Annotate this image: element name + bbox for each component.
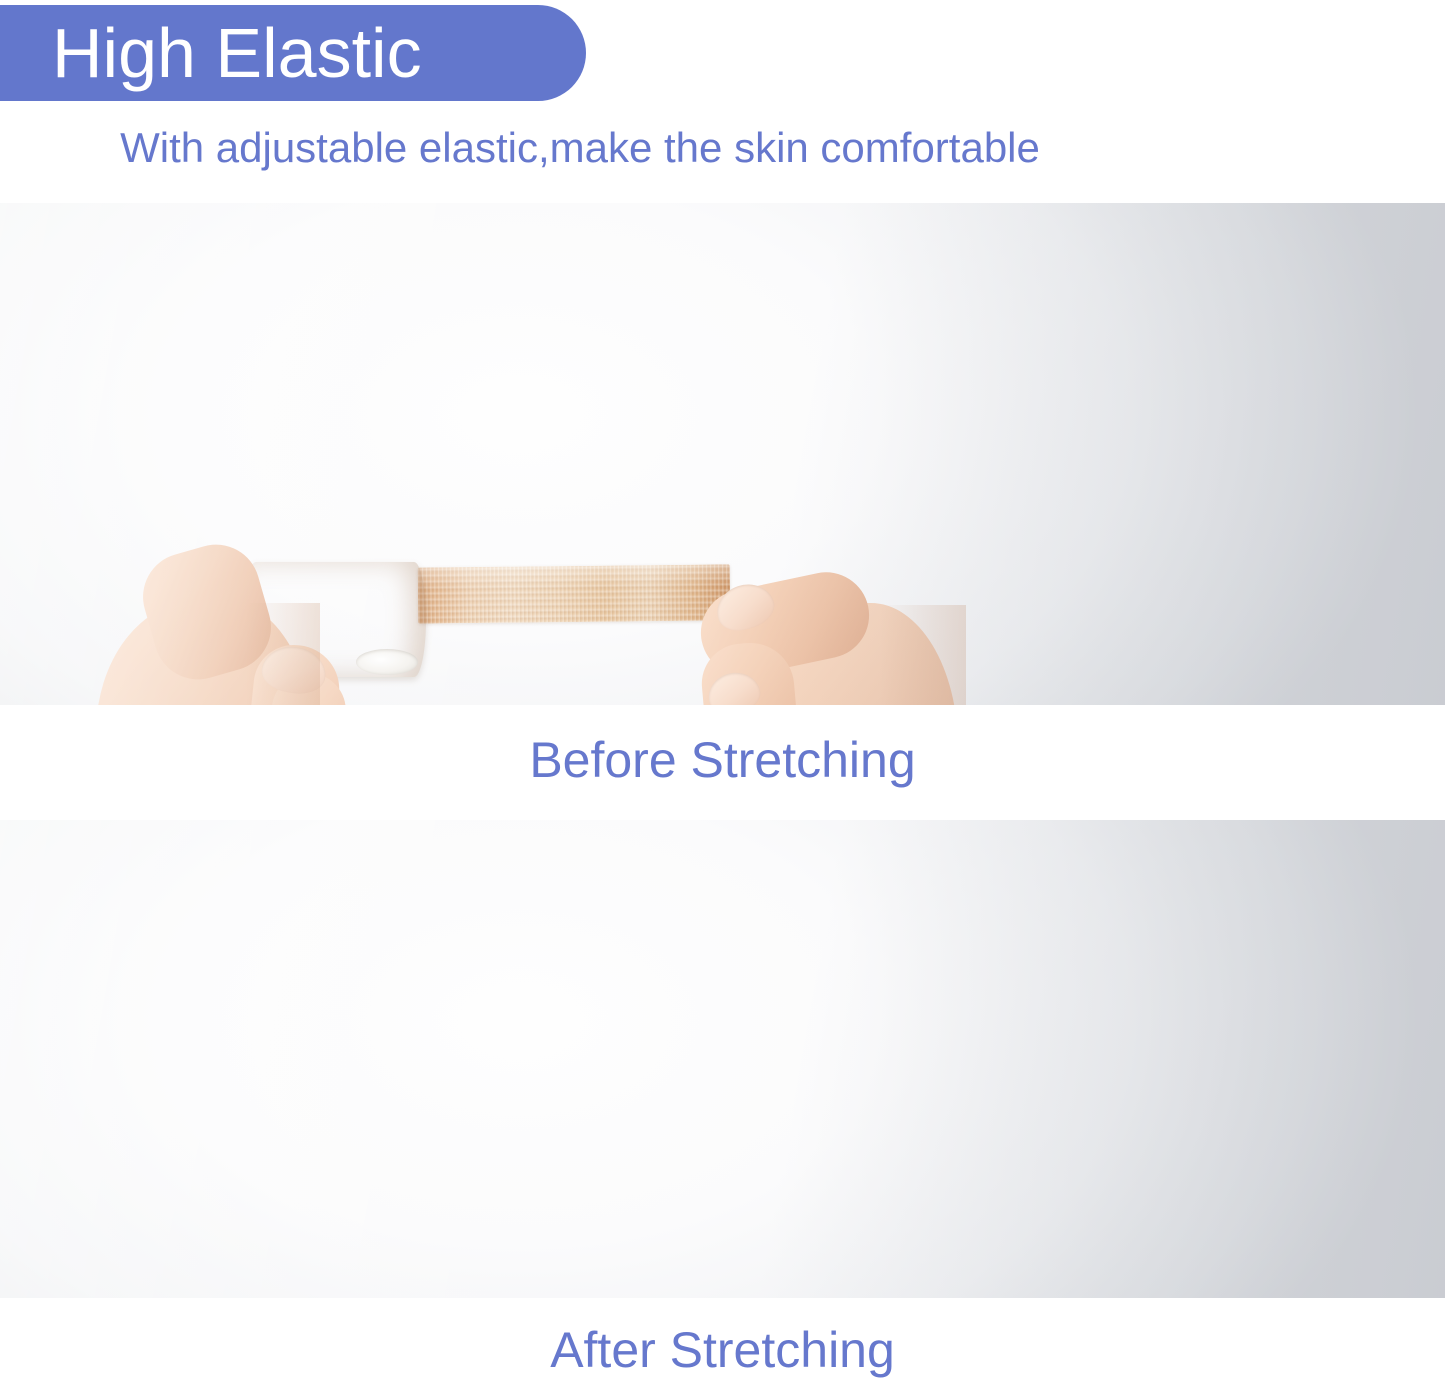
scene-before [0,203,1445,705]
high-elastic-badge: High Elastic [0,5,586,101]
bandage-strip-before [418,564,731,623]
roll-core-before [356,649,418,675]
caption-after-stretching: After Stretching [0,1325,1445,1375]
badge-label: High Elastic [0,18,422,88]
caption-before-stretching: Before Stretching [0,735,1445,785]
infographic-page: High Elastic With adjustable elastic,mak… [0,0,1445,1383]
photo-before-stretching [0,203,1445,705]
subtitle-text: With adjustable elastic,make the skin co… [0,124,1160,172]
scene-after [0,820,1445,1298]
photo-after-stretching [0,820,1445,1298]
